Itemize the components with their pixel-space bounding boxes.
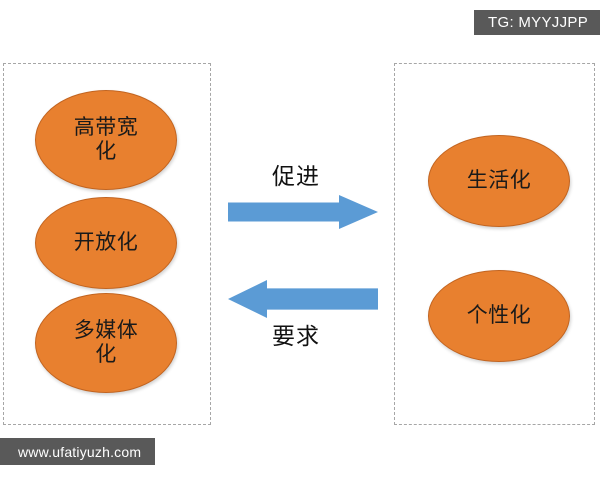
arrow-label-promote: 促进 (272, 166, 320, 189)
arrow-right-icon (228, 195, 378, 229)
node-label: 生活化 (467, 169, 532, 193)
node-label: 个性化 (467, 304, 532, 328)
node-duomeitihua[interactable]: 多媒体化 (35, 293, 177, 393)
node-label: 开放化 (74, 231, 139, 255)
tg-watermark-badge: TG: MYYJJPP (474, 10, 600, 35)
arrow-label-require: 要求 (272, 326, 320, 349)
arrow-left-icon (228, 280, 378, 318)
node-gaodaikuanhua[interactable]: 高带宽化 (35, 90, 177, 190)
diagram-canvas: 高带宽化 开放化 多媒体化 生活化 个性化 促进 要求 TG: MYYJJPP … (0, 0, 600, 480)
node-shenghuohua[interactable]: 生活化 (428, 135, 570, 227)
node-kaifanghua[interactable]: 开放化 (35, 197, 177, 289)
site-watermark-badge: www.ufatiyuzh.com (0, 438, 155, 465)
node-gexinghua[interactable]: 个性化 (428, 270, 570, 362)
node-label: 高带宽化 (70, 116, 142, 163)
right-dashed-group (394, 63, 595, 425)
node-label: 多媒体化 (70, 319, 142, 366)
